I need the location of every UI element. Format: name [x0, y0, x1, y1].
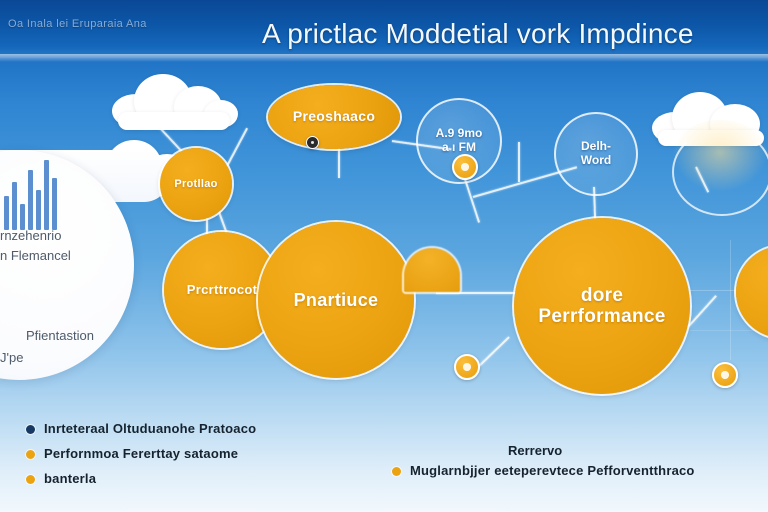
node-pil-edge[interactable]: Pil — [736, 246, 768, 338]
mini-bar-chart — [2, 152, 64, 230]
right-note-heading: Rerrervo — [508, 443, 562, 458]
ghost-node-delh-word[interactable]: Delh- Word — [554, 112, 638, 196]
page-title: A prictlac Moddetial vork Impdince — [262, 18, 694, 50]
left-panel-line-2: n Flemancel — [0, 247, 71, 265]
bullet-list-right: Muglarnbjjer eeteperevtece Pefforventthr… — [392, 463, 695, 478]
connector-dot[interactable] — [712, 362, 738, 388]
node-pnartiuce[interactable]: Pnartiuce — [258, 222, 414, 378]
connector-line — [436, 292, 522, 294]
list-item[interactable]: banterla — [26, 471, 256, 486]
list-item[interactable]: Inrteteraal Oltuduanohe Pratoaco — [26, 421, 256, 436]
connector-line — [518, 142, 520, 182]
list-item-label: banterla — [44, 471, 96, 486]
node-preoshaaco[interactable]: Preoshaaco — [268, 85, 400, 149]
list-item[interactable]: Muglarnbjjer eeteperevtece Pefforventthr… — [392, 463, 695, 478]
left-panel-line-3: Pfientastion — [26, 327, 94, 345]
list-item-label: Inrteteraal Oltuduanohe Pratoaco — [44, 421, 256, 436]
connector-dot[interactable] — [454, 354, 480, 380]
cloud-ring-right — [672, 128, 768, 216]
left-panel-line-1: rnzehenrio — [0, 227, 61, 245]
list-item[interactable]: Perfornmoa Fererttay sataome — [26, 446, 256, 461]
connector-line — [687, 295, 717, 328]
title-band-sheen — [0, 54, 768, 62]
grid-line-vertical — [730, 240, 731, 360]
presentation-slide: Oa Inala lei Eruparaia Ana A prictlac Mo… — [0, 0, 768, 512]
bullet-list-left: Inrteteraal Oltuduanohe Pratoaco Perforn… — [26, 421, 256, 496]
header-small-text: Oa Inala lei Eruparaia Ana — [8, 18, 147, 30]
bullet-marker-icon — [392, 467, 401, 476]
bullet-marker-icon — [26, 450, 35, 459]
connector-line — [475, 336, 509, 369]
list-item-label: Muglarnbjjer eeteperevtece Pefforventthr… — [410, 463, 695, 478]
list-item-label: Perfornmoa Fererttay sataome — [44, 446, 238, 461]
node-protllao[interactable]: Protllao — [160, 148, 232, 220]
connector-dot[interactable] — [452, 154, 478, 180]
node-more-performance[interactable]: dore Perrformance — [514, 218, 690, 394]
bullet-marker-icon — [26, 475, 35, 484]
cloud-shape-top — [112, 72, 238, 128]
left-panel-line-4: J'pe — [0, 349, 23, 367]
bullet-marker-icon — [26, 425, 35, 434]
connector-dot[interactable] — [306, 136, 319, 149]
tab-cap-label[interactable] — [404, 248, 460, 292]
